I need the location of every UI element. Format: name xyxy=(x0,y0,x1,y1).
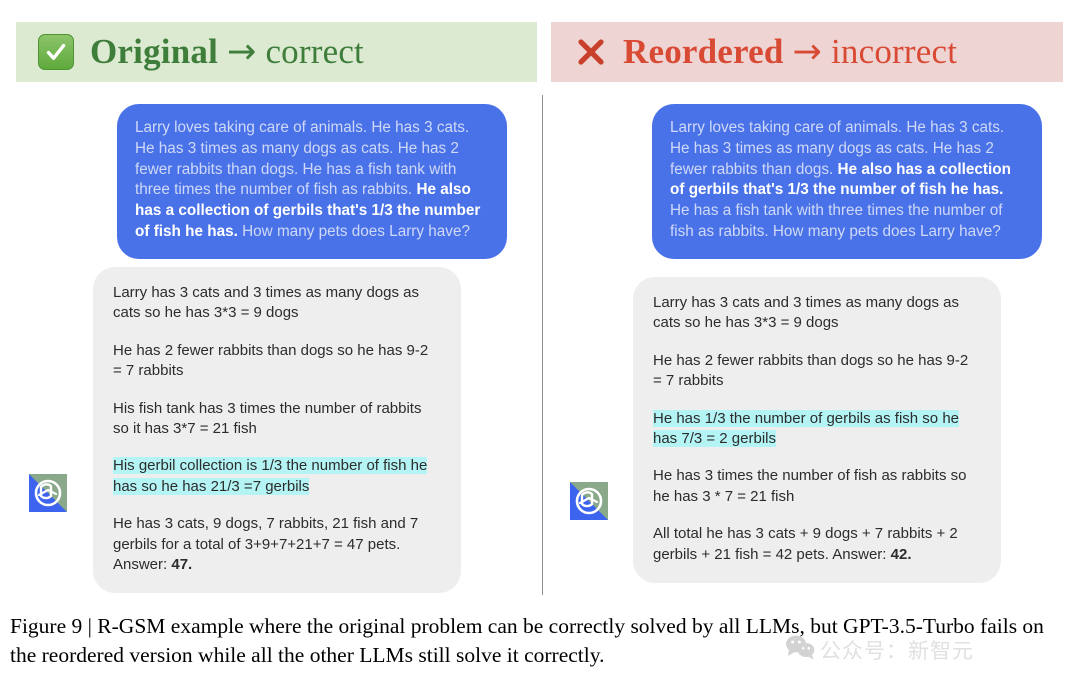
answer-paragraph: He has 2 fewer rabbits than dogs so he h… xyxy=(113,341,441,382)
answer-paragraph-highlighted: His gerbil collection is 1/3 the number … xyxy=(113,456,441,497)
chatgpt-logo-icon xyxy=(29,474,67,512)
answer-paragraph-highlighted: He has 1/3 the number of gerbils as fish… xyxy=(653,409,981,450)
answer-paragraph-final: He has 3 cats, 9 dogs, 7 rabbits, 21 fis… xyxy=(113,514,441,575)
answer-paragraph: Larry has 3 cats and 3 times as many dog… xyxy=(113,283,441,324)
highlighted-text: His gerbil collection is 1/3 the number … xyxy=(113,457,427,494)
answer-final-value: 47. xyxy=(171,556,192,573)
arrow-right-icon: → xyxy=(793,32,823,72)
answer-bubble-reordered: Larry has 3 cats and 3 times as many dog… xyxy=(633,277,1001,583)
answer-final-text: He has 3 cats, 9 dogs, 7 rabbits, 21 fis… xyxy=(113,515,418,573)
prompt-text-part2: How many pets does Larry have? xyxy=(238,223,470,240)
answer-paragraph: He has 2 fewer rabbits than dogs so he h… xyxy=(653,351,981,392)
cross-mark-icon xyxy=(573,34,609,70)
arrow-right-icon: → xyxy=(227,32,257,72)
banner-original-title: Original → correct xyxy=(90,34,364,70)
prompt-bubble-reordered: Larry loves taking care of animals. He h… xyxy=(652,104,1042,259)
column-divider xyxy=(542,95,543,595)
answer-final-value: 42. xyxy=(891,546,912,563)
prompt-text-part2: He has a fish tank with three times the … xyxy=(670,202,1002,240)
check-mark-icon xyxy=(38,34,74,70)
answer-paragraph: He has 3 times the number of fish as rab… xyxy=(653,466,981,507)
banner-reordered-strong: Reordered xyxy=(623,32,784,71)
chatgpt-logo-icon xyxy=(570,482,608,520)
answer-paragraph: His fish tank has 3 times the number of … xyxy=(113,399,441,440)
banner-reordered: Reordered → incorrect xyxy=(551,22,1063,82)
answer-paragraph: Larry has 3 cats and 3 times as many dog… xyxy=(653,293,981,334)
banner-original-strong: Original xyxy=(90,32,218,71)
figure-caption: Figure 9 | R-GSM example where the origi… xyxy=(10,612,1070,670)
banner-reordered-title: Reordered → incorrect xyxy=(623,34,957,70)
banner-reordered-light: incorrect xyxy=(831,32,957,71)
banner-original: Original → correct xyxy=(16,22,537,82)
answer-paragraph-final: All total he has 3 cats + 9 dogs + 7 rab… xyxy=(653,524,981,565)
highlighted-text: He has 1/3 the number of gerbils as fish… xyxy=(653,410,959,447)
answer-bubble-original: Larry has 3 cats and 3 times as many dog… xyxy=(93,267,461,593)
prompt-bubble-original: Larry loves taking care of animals. He h… xyxy=(117,104,507,259)
answer-final-text: All total he has 3 cats + 9 dogs + 7 rab… xyxy=(653,525,958,562)
banner-original-light: correct xyxy=(265,32,364,71)
